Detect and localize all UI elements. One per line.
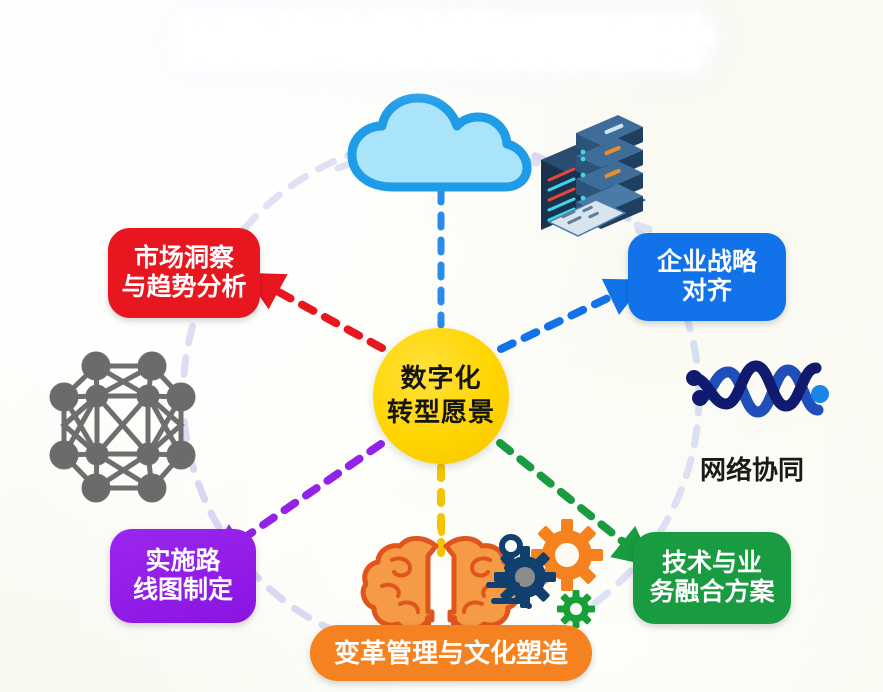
node-tech-business-fusion[interactable]: 技术与业 务融合方案: [633, 532, 791, 624]
network-collaboration-caption: 网络协同: [700, 450, 804, 487]
cloud-icon: [352, 98, 527, 187]
center-hub-line1: 数字化: [400, 362, 481, 396]
center-hub[interactable]: 数字化 转型愿景: [373, 328, 509, 464]
server-rack-icon: [541, 115, 646, 236]
infographic-stage: 长期战略规划的顶层设计: [0, 0, 883, 692]
node-market-insight[interactable]: 市场洞察 与趋势分析: [108, 228, 260, 318]
node-strategy-alignment-line2: 对齐: [657, 277, 757, 307]
node-market-insight-line1: 市场洞察: [121, 244, 246, 274]
node-tech-business-fusion-line1: 技术与业: [649, 549, 774, 579]
node-implementation-roadmap[interactable]: 实施路 线图制定: [110, 529, 256, 623]
node-strategy-alignment-line1: 企业战略: [657, 248, 757, 278]
node-tech-business-fusion-line2: 务融合方案: [649, 578, 774, 608]
signal-wave-icon: [686, 366, 829, 412]
title-banner: 长期战略规划的顶层设计: [0, 4, 883, 80]
node-strategy-alignment[interactable]: 企业战略 对齐: [628, 233, 786, 321]
node-implementation-roadmap-line1: 实施路: [133, 547, 233, 577]
center-hub-line2: 转型愿景: [387, 396, 495, 430]
node-change-management-label: 变革管理与文化塑造: [334, 638, 568, 669]
network-mesh-icon: [50, 352, 195, 502]
node-implementation-roadmap-line2: 线图制定: [133, 576, 233, 606]
node-market-insight-line2: 与趋势分析: [121, 273, 246, 303]
gear-green: [557, 590, 595, 628]
page-title: 长期战略规划的顶层设计: [172, 19, 711, 66]
node-change-management[interactable]: 变革管理与文化塑造: [310, 625, 592, 681]
